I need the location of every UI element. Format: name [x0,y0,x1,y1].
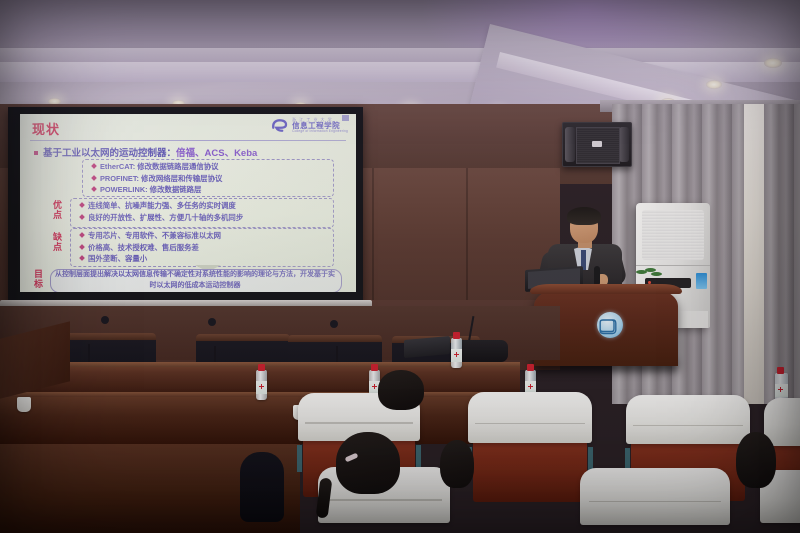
audience-chair[interactable] [468,392,592,502]
diamond-bullet-icon [91,163,97,169]
disadvantage-text: 价格高、技术授权难、售后服务差 [88,243,199,252]
handheld-microphone [594,266,600,286]
audience-head [240,452,284,522]
slide-logo-text: 浙 江 工 业 大 学 信息工程学院 College of Informatio… [292,118,348,133]
protocol-text: EtherCAT: 修改数据链路层通信协议 [100,162,219,171]
advantages-list: 连线简单、抗噪声能力强、多任务的实时调度 良好的开放性、扩展性、方便几十轴的多机… [80,200,243,223]
chair-top-rail [288,335,382,342]
list-item: EtherCAT: 修改数据链路层通信协议 [92,161,222,173]
bottle-cap-icon [371,364,378,371]
protocol-text: PROFINET: 修改网络层和传输层协议 [100,174,222,183]
diamond-bullet-icon [79,244,85,250]
list-item: 价格高、技术授权难、售后服务差 [80,242,221,254]
list-item: 专用芯片、专用软件、不兼容标准以太网 [80,230,221,242]
cover-fold-line [633,425,742,427]
chair-top-rail [62,333,156,340]
chair-white-cover [468,392,592,443]
slide-divider [30,140,346,141]
chair-leg [297,445,302,472]
curtain-right-panel[interactable] [764,104,800,404]
chair-backrest [473,438,587,502]
list-item: POWERLINK: 修改数据链路层 [92,184,222,196]
downlight-icon [764,58,782,68]
wall-microphone-icon [101,316,109,324]
goal-label: 目标 [31,269,46,289]
cover-fold-line [589,501,721,503]
wall-microphone-icon [208,318,216,326]
diamond-bullet-icon [79,232,85,238]
water-bottle[interactable] [256,370,267,400]
slide-title: 现状 [32,119,60,138]
diamond-bullet-icon [79,255,85,261]
disadvantages-list: 专用芯片、专用软件、不兼容标准以太网 价格高、技术授权难、售后服务差 国外垄断、… [80,230,221,265]
slide-logo-english: College of Information Engineering [292,130,348,133]
audience-head [440,440,474,488]
slide-logo: 浙 江 工 业 大 学 信息工程学院 College of Informatio… [271,118,348,133]
bottle-label [775,384,788,397]
window-light-gap [744,104,766,404]
protocol-text: POWERLINK: 修改数据链路层 [100,185,201,194]
paper-cup[interactable] [17,397,31,412]
wall-speaker [562,122,632,167]
ac-vent-grill-icon [642,210,704,260]
goal-label-text: 目标 [34,269,43,289]
audience-chair[interactable] [580,468,730,533]
advantages-label: 优点 [50,200,65,220]
small-plant [636,268,662,278]
diamond-bullet-icon [79,214,85,220]
ac-energy-label [696,273,707,289]
cover-fold-line [326,499,442,501]
audience-head [378,370,424,410]
advantages-label-text: 优点 [53,200,62,220]
cover-fold-line [475,423,584,425]
audience-head [736,432,776,488]
advantage-text: 连线简单、抗噪声能力强、多任务的实时调度 [88,201,236,210]
bottle-cap-icon [453,332,460,339]
cover-fold-line [305,422,412,424]
diamond-bullet-icon [79,202,85,208]
speaker-side-driver [565,127,575,162]
disadvantages-label-text: 缺点 [53,232,62,252]
diamond-bullet-icon [91,186,97,192]
e-swoosh-icon [271,118,289,133]
slide-logo-square-mark [342,115,349,121]
conference-hall-photo: 现状 浙 江 工 业 大 学 信息工程学院 College of Informa… [0,0,800,533]
downlight-icon [706,80,722,89]
list-item: 连线简单、抗噪声能力强、多任务的实时调度 [80,200,243,212]
speaker-brand-badge [592,141,602,147]
disadvantages-label: 缺点 [50,232,65,252]
speaker-side-driver [619,127,629,162]
diamond-bullet-icon [91,175,97,181]
advantage-text: 良好的开放性、扩展性、方便几十轴的多机同步 [88,213,243,222]
bottle-cap-icon [258,364,265,371]
protocols-list: EtherCAT: 修改数据链路层通信协议 PROFINET: 修改网络层和传输… [92,161,222,196]
bottle-cap-icon [527,364,534,371]
bottle-cap-icon [777,367,784,374]
lectern-top-surface [530,284,682,294]
water-bottle[interactable] [451,338,462,368]
goal-text: 从控制层面提出解决以太网信息传输不确定性对系统性能的影响的理论与方法，开发基于实… [54,270,336,291]
ac-panel-seam [636,265,710,266]
chair-white-cover [580,468,730,525]
list-item: 良好的开放性、扩展性、方便几十轴的多机同步 [80,212,243,224]
projected-slide: 现状 浙 江 工 业 大 学 信息工程学院 College of Informa… [20,114,356,292]
main-bullet-text: 基于工业以太网的运动控制器： [43,148,176,159]
chair-top-rail [196,334,290,341]
bullet-square-icon [34,151,38,155]
brand-list: 倍福、ACS、Keba [176,148,257,159]
slide-main-bullet: 基于工业以太网的运动控制器：倍福、ACS、Keba [34,145,257,159]
list-item: PROFINET: 修改网络层和传输层协议 [92,173,222,185]
list-item: 国外垄断、容量小 [80,253,221,265]
audience-head [336,432,400,494]
wall-microphone-icon [330,320,338,328]
disadvantage-text: 国外垄断、容量小 [88,254,147,263]
leaf-icon [651,272,662,276]
university-emblem-icon: ⃣ [597,312,623,338]
disadvantage-text: 专用芯片、专用软件、不兼容标准以太网 [88,231,221,240]
chair-white-cover [626,395,750,444]
presenter-hair [567,207,601,225]
